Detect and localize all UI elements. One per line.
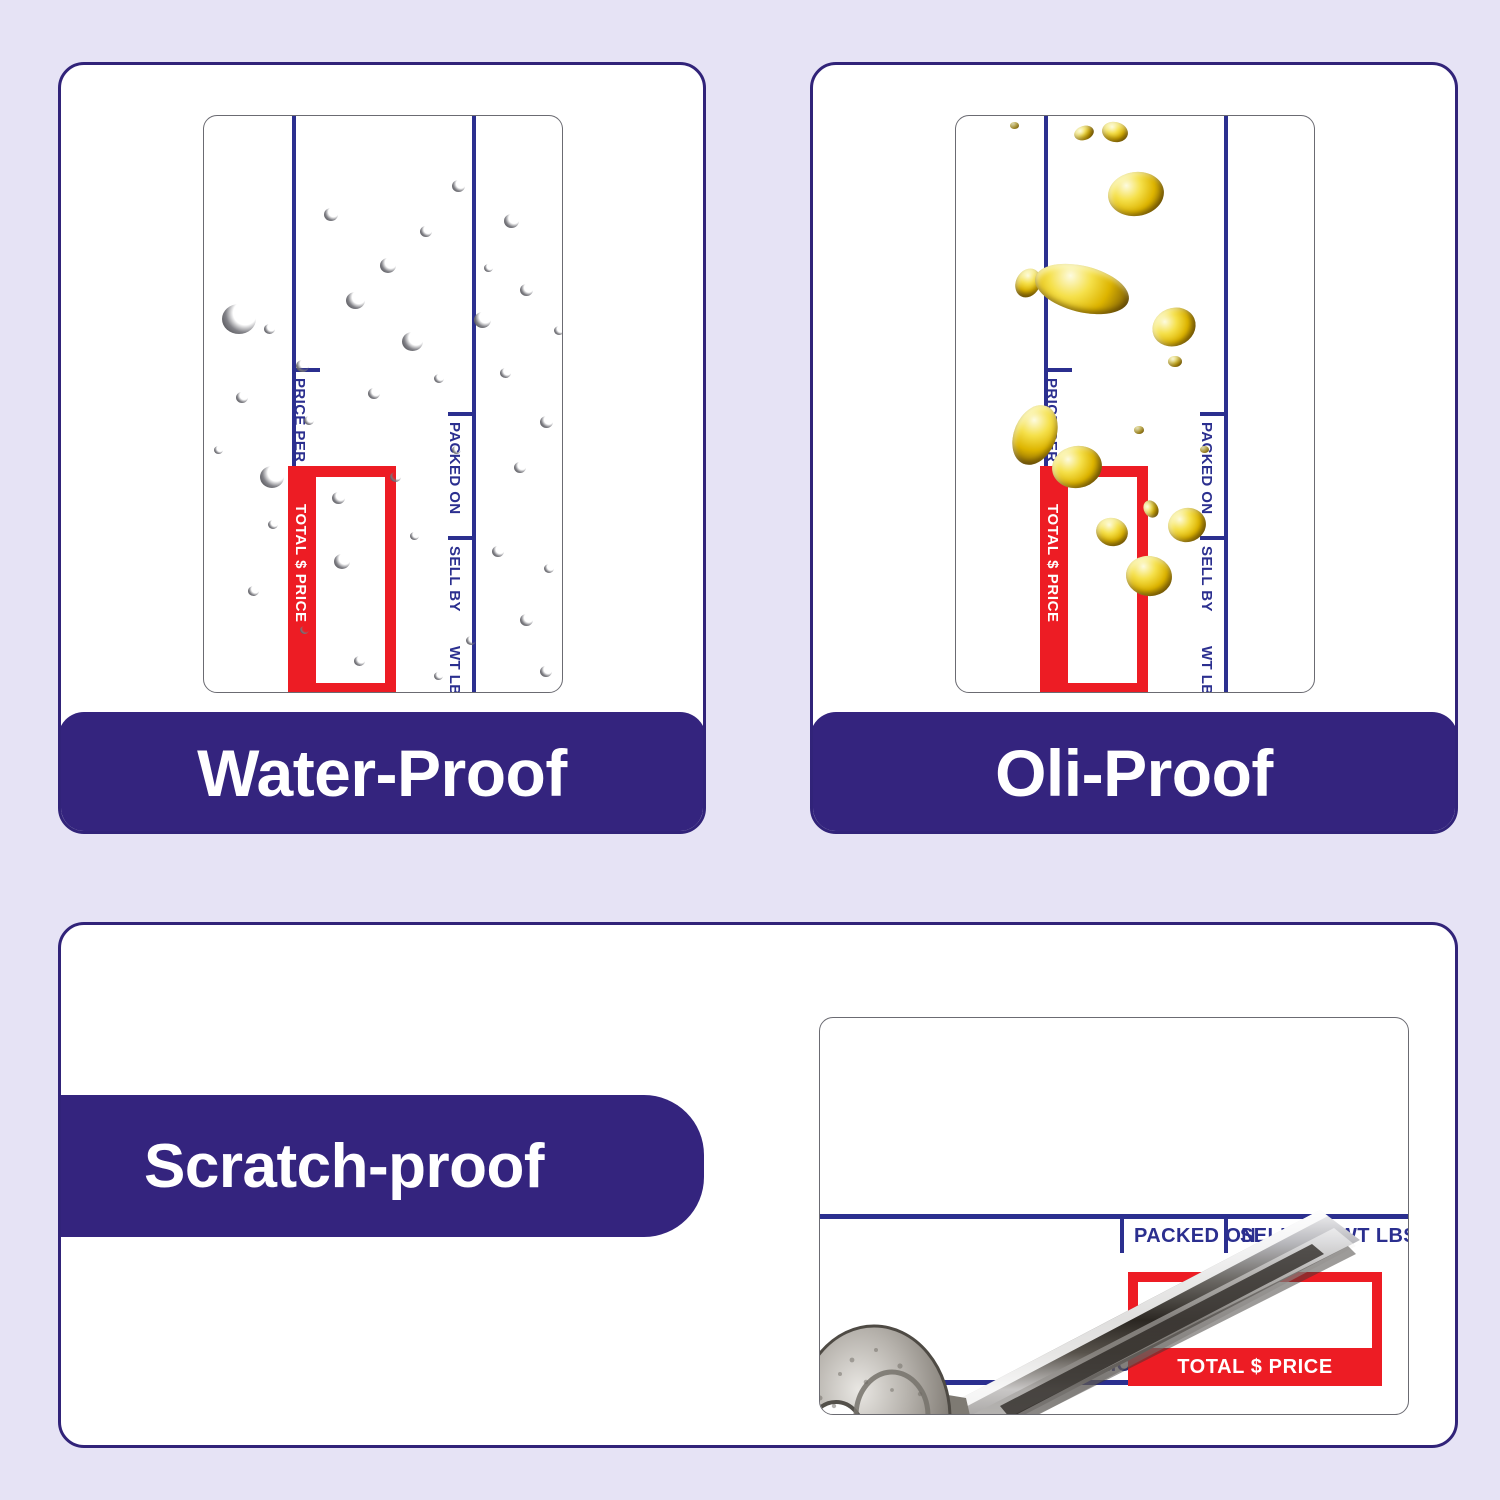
banner-water-proof: Water-Proof (58, 712, 706, 834)
label-divider-secondary (472, 116, 476, 693)
label-tick-price (292, 368, 320, 372)
label-field-wt-lbs: WT LBS (446, 646, 463, 693)
label-tick-sellby (1200, 536, 1228, 540)
label-field-sell-by: SELL BY (1240, 1225, 1327, 1248)
total-price-strip: TOTAL $ PRICE (1128, 1348, 1382, 1386)
panel-card-oil-proof: PRICE PER LB PACKED ON SELL BY WT LBS TO… (810, 62, 1458, 834)
banner-label-scratch-proof: Scratch-proof (144, 1131, 544, 1202)
panel-card-scratch-proof: Scratch-proof PACKED ON SELL BY WT LBS P… (58, 922, 1458, 1448)
label-tick-packed (1200, 412, 1228, 416)
banner-oil-proof: Oli-Proof (810, 712, 1458, 834)
label-field-packed-on: PACKED ON (1198, 422, 1215, 515)
label-tick-price (1070, 1348, 1074, 1382)
scale-label-oil: PRICE PER LB PACKED ON SELL BY WT LBS TO… (955, 115, 1315, 693)
total-price-strip: TOTAL $ PRICE (1040, 466, 1068, 693)
total-price-label: TOTAL $ PRICE (292, 504, 309, 623)
label-field-sell-by: SELL BY (1198, 546, 1215, 612)
label-tick-packed (1120, 1219, 1124, 1253)
label-field-wt-lbs: WT LBS (1198, 646, 1215, 693)
banner-label-oil-proof: Oli-Proof (995, 735, 1273, 811)
total-price-strip: TOTAL $ PRICE (288, 466, 316, 693)
total-price-label: TOTAL $ PRICE (1177, 1356, 1333, 1379)
label-field-packed-on: PACKED ON (1134, 1225, 1256, 1248)
banner-label-water-proof: Water-Proof (197, 735, 567, 811)
total-price-label: TOTAL $ PRICE (1044, 504, 1061, 623)
label-field-packed-on: PACKED ON (446, 422, 463, 515)
scale-label-water: PRICE PER LB PACKED ON SELL BY WT LBS TO… (203, 115, 563, 693)
banner-scratch-proof: Scratch-proof (58, 1095, 704, 1237)
scale-label-scratch: PACKED ON SELL BY WT LBS PRICE PER LB TO… (819, 1017, 1409, 1415)
label-tick-packed (448, 412, 476, 416)
label-field-sell-by: SELL BY (446, 546, 463, 612)
panel-card-water-proof: PRICE PER LB PACKED ON SELL BY WT LBS TO… (58, 62, 706, 834)
label-divider-price-row (820, 1380, 1128, 1385)
label-tick-sellby (448, 536, 476, 540)
label-tick-price (1044, 368, 1072, 372)
label-field-wt-lbs: WT LBS (1338, 1225, 1409, 1248)
label-divider-secondary (1224, 116, 1228, 693)
